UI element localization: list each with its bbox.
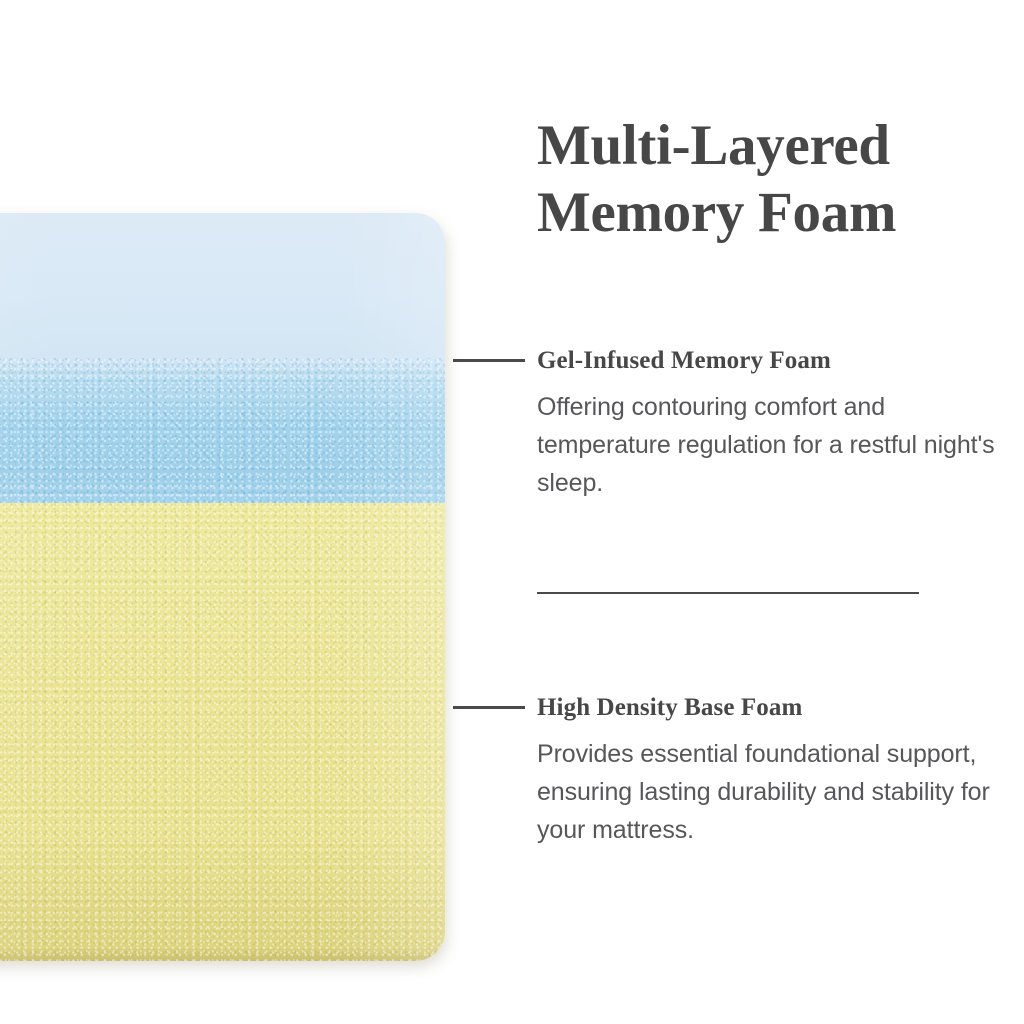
base-foam-texture <box>0 503 445 961</box>
section-high-density-base-foam: High Density Base Foam Provides essentia… <box>453 692 1024 849</box>
foam-cover-layer <box>0 213 445 358</box>
infographic-page: Multi-Layered Memory Foam Gel-Infused Me… <box>0 0 1024 1024</box>
section-heading-row: High Density Base Foam <box>453 692 1024 722</box>
section-heading: Gel-Infused Memory Foam <box>537 348 831 373</box>
foam-gel-infused-layer <box>0 358 445 503</box>
section-body: Offering contouring comfort and temperat… <box>537 388 1007 502</box>
foam-block-illustration <box>0 213 445 961</box>
section-heading: High Density Base Foam <box>537 695 802 720</box>
content-column: Multi-Layered Memory Foam Gel-Infused Me… <box>453 0 1024 1024</box>
foam-high-density-base-layer <box>0 503 445 961</box>
section-gel-infused-memory-foam: Gel-Infused Memory Foam Offering contour… <box>453 345 1024 502</box>
leader-line-icon <box>453 359 525 362</box>
section-body: Provides essential foundational support,… <box>537 735 1007 849</box>
gel-foam-texture <box>0 358 445 503</box>
section-heading-row: Gel-Infused Memory Foam <box>453 345 1024 375</box>
page-title: Multi-Layered Memory Foam <box>537 113 1007 246</box>
section-divider <box>537 592 919 594</box>
leader-line-icon <box>453 706 525 709</box>
